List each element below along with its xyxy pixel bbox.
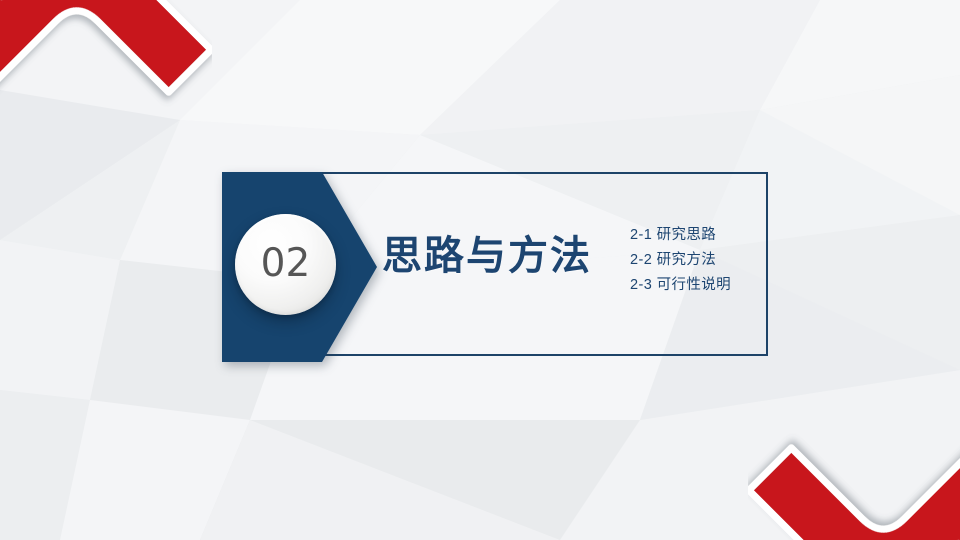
page-title: 思路与方法: [382, 236, 592, 276]
section-number-text: 02: [261, 244, 311, 285]
list-item[interactable]: 2-1 研究思路: [630, 228, 731, 244]
list-item[interactable]: 2-3 可行性说明: [630, 278, 731, 294]
section-outline-list: 2-1 研究思路 2-2 研究方法 2-3 可行性说明: [630, 228, 731, 294]
section-number-badge: 02: [235, 214, 336, 315]
presentation-slide: 02 思路与方法 2-1 研究思路 2-2 研究方法 2-3 可行性说明: [0, 0, 960, 540]
list-item[interactable]: 2-2 研究方法: [630, 253, 731, 269]
